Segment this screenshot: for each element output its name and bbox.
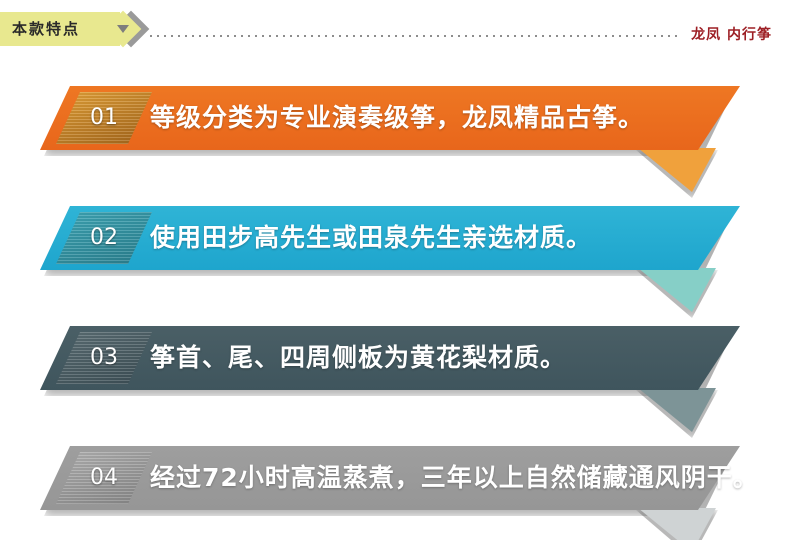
feature-banner[interactable]: 02使用田步高先生或田泉先生亲选材质。	[0, 202, 790, 320]
page-title: 本款特点	[12, 12, 117, 46]
feature-text: 经过72小时高温蒸煮，三年以上自然储藏通风阴干。	[150, 446, 759, 510]
feature-banner[interactable]: 04经过72小时高温蒸煮，三年以上自然储藏通风阴干。	[0, 442, 790, 540]
slide-header: 本款特点 龙凤 内行筝	[0, 12, 790, 58]
feature-text: 等级分类为专业演奏级筝，龙凤精品古筝。	[150, 86, 644, 150]
feature-text: 筝首、尾、四周侧板为黄花梨材质。	[150, 326, 566, 390]
brand-label: 龙凤 内行筝	[691, 24, 772, 44]
header-dotted-rule	[150, 35, 680, 37]
feature-banner[interactable]: 01等级分类为专业演奏级筝，龙凤精品古筝。	[0, 82, 790, 200]
feature-text: 使用田步高先生或田泉先生亲选材质。	[150, 206, 592, 270]
slide-canvas: 本款特点 龙凤 内行筝 01等级分类为专业演奏级筝，龙凤精品古筝。02使用田步高…	[0, 0, 790, 540]
feature-banner[interactable]: 03筝首、尾、四周侧板为黄花梨材质。	[0, 322, 790, 440]
chevron-down-icon	[117, 25, 129, 33]
